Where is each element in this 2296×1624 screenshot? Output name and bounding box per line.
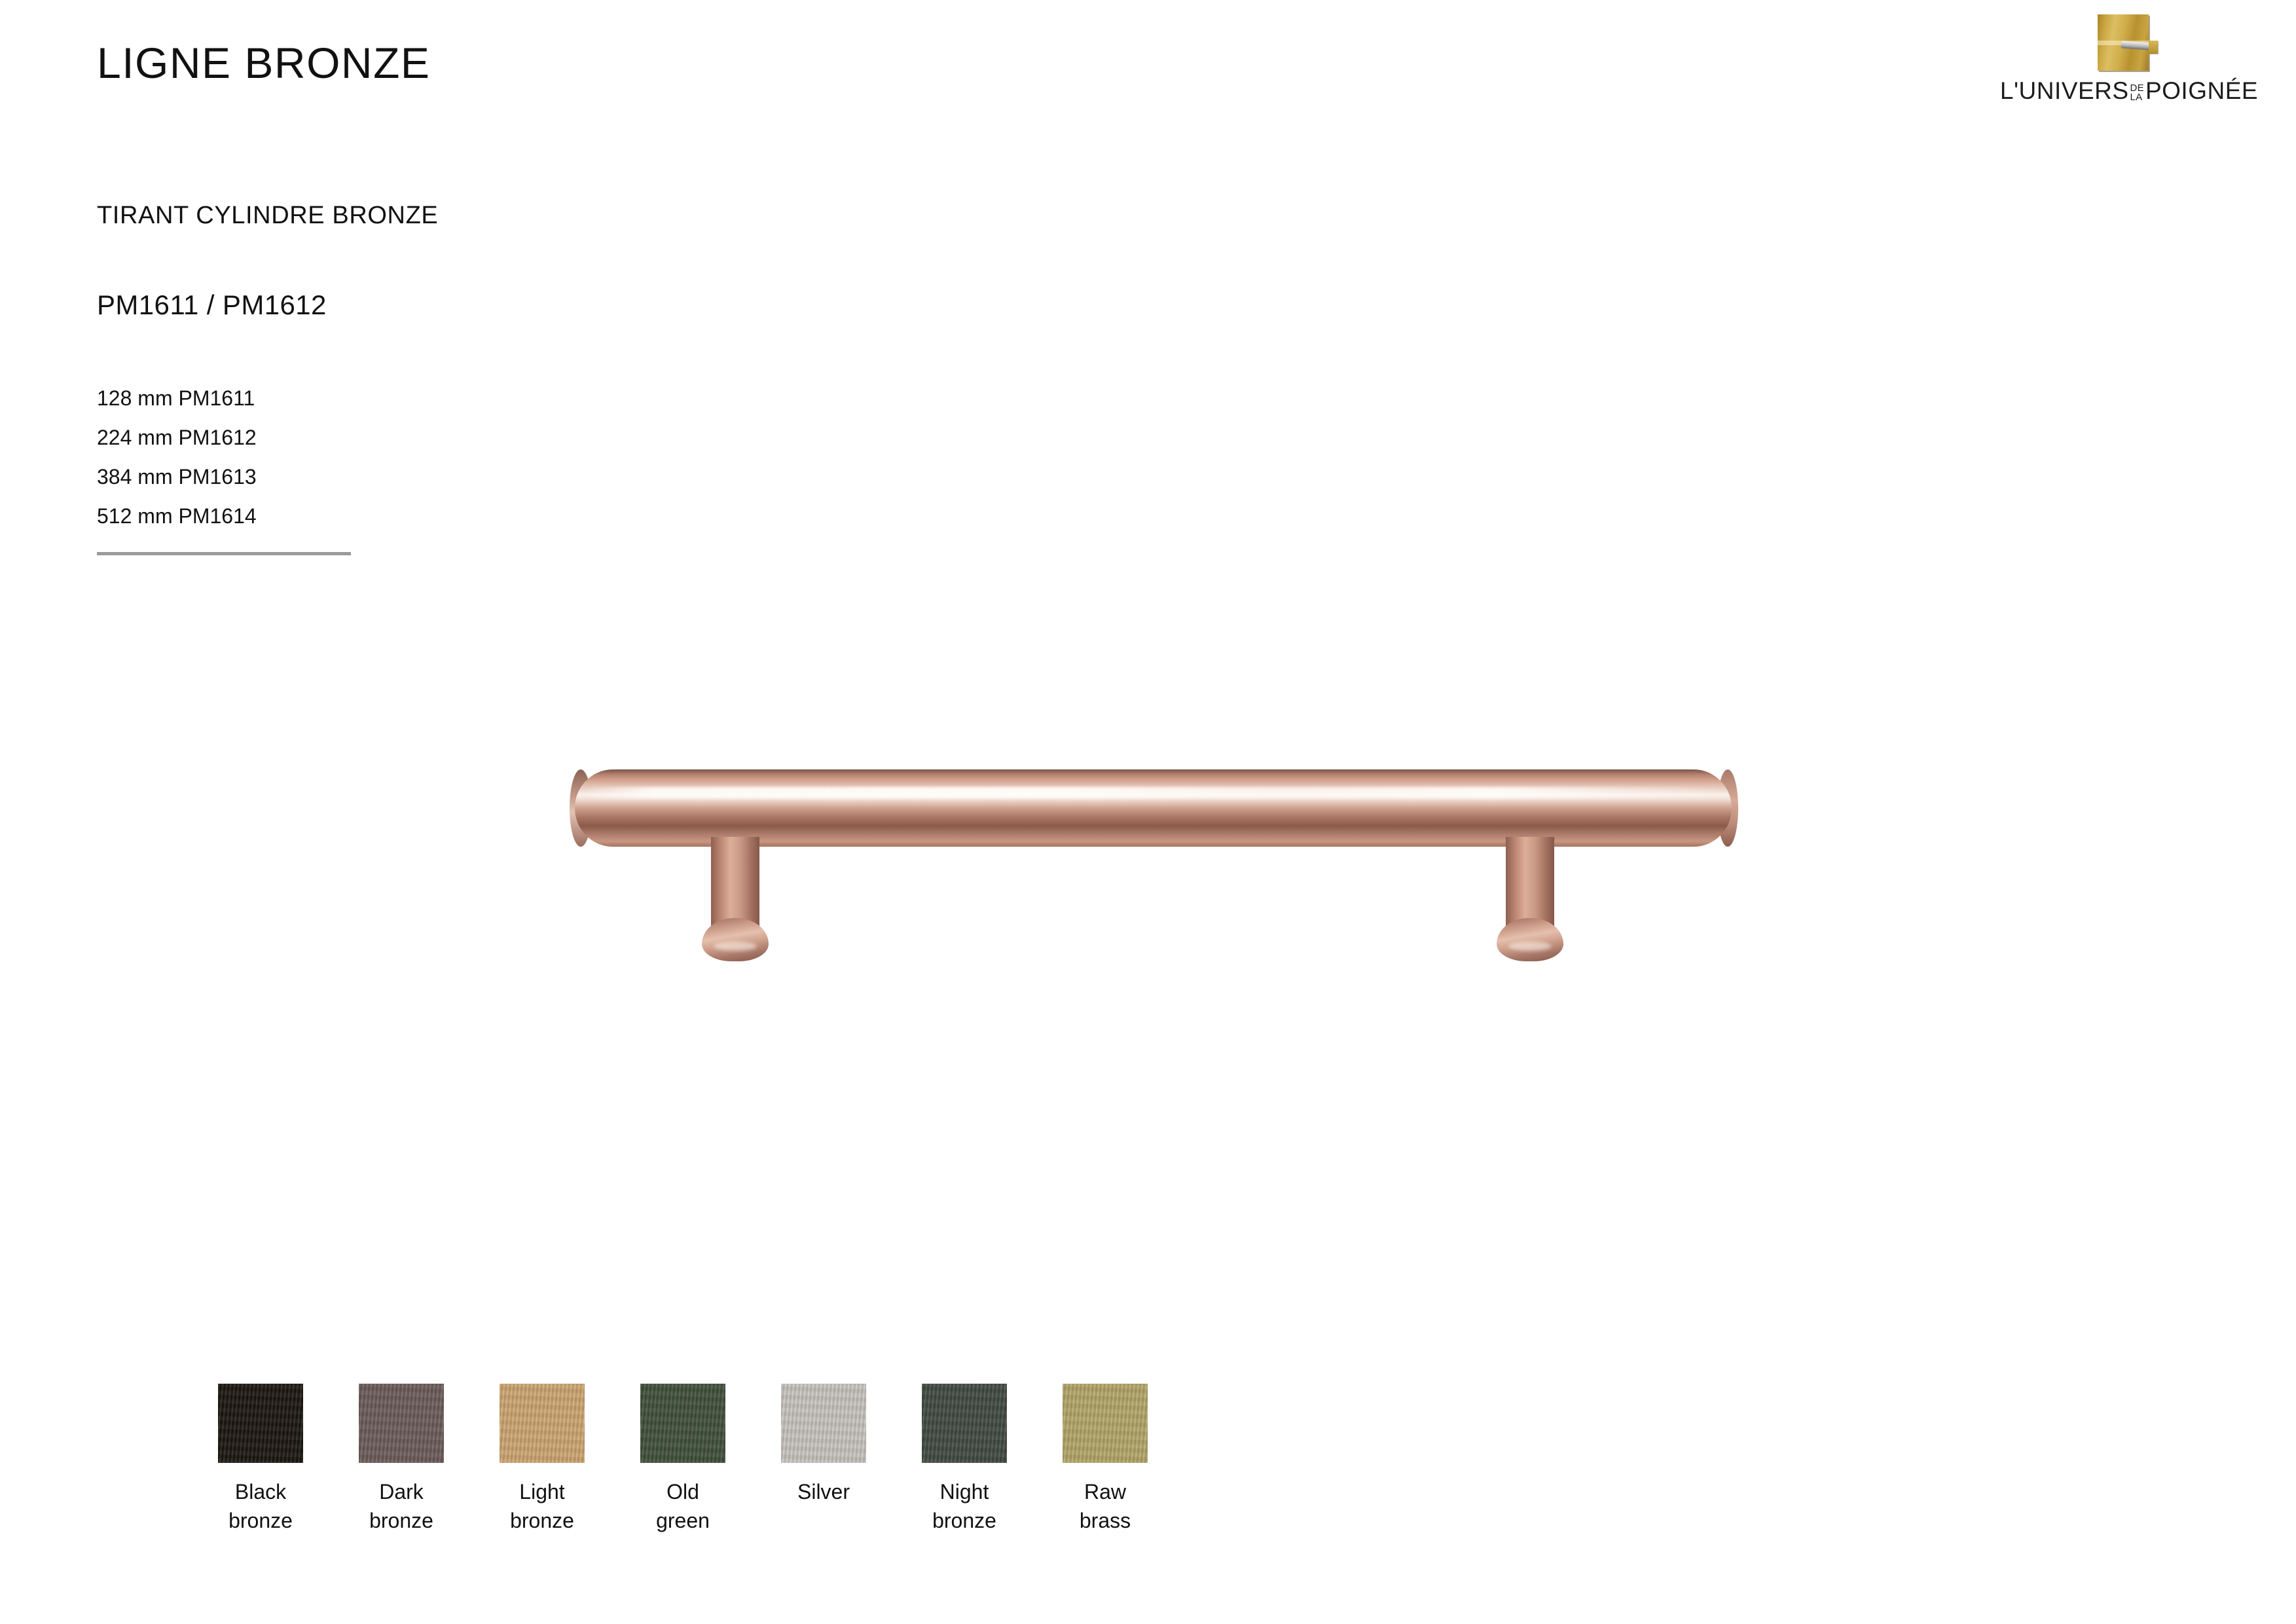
product-subtitle: TIRANT CYLINDRE BRONZE bbox=[97, 202, 438, 230]
swatch-texture bbox=[922, 1384, 1007, 1463]
finish-option[interactable]: Night bronze bbox=[922, 1384, 1007, 1535]
swatch-texture bbox=[359, 1384, 444, 1463]
finish-label: Silver bbox=[797, 1477, 850, 1506]
size-list-item: 128 mm PM1611 bbox=[97, 378, 257, 418]
finish-swatch[interactable] bbox=[922, 1384, 1007, 1463]
finish-label: Night bronze bbox=[932, 1477, 996, 1535]
finish-swatch[interactable] bbox=[781, 1384, 866, 1463]
finish-swatch[interactable] bbox=[500, 1384, 585, 1463]
swatch-texture bbox=[218, 1384, 303, 1463]
brand-wordmark: L'UNIVERS DE LA POIGNÉE bbox=[2000, 77, 2258, 105]
swatch-texture bbox=[500, 1384, 585, 1463]
handle-post-left bbox=[711, 837, 759, 931]
size-list-item: 512 mm PM1614 bbox=[97, 496, 257, 536]
wordmark-univers: L'UNIVERS bbox=[2000, 77, 2129, 105]
horizontal-rule bbox=[97, 552, 351, 555]
finish-label: Dark bronze bbox=[369, 1477, 433, 1535]
door-plate-handle-icon bbox=[2092, 12, 2166, 72]
finish-swatch-row: Black bronze Dark bronze Light bronze Ol… bbox=[218, 1384, 2189, 1535]
finish-option[interactable]: Black bronze bbox=[218, 1384, 303, 1535]
finish-label: Black bronze bbox=[228, 1477, 293, 1535]
size-list-item: 224 mm PM1612 bbox=[97, 418, 257, 457]
swatch-texture bbox=[781, 1384, 866, 1463]
foot-highlight-right bbox=[1508, 942, 1552, 951]
finish-swatch[interactable] bbox=[640, 1384, 725, 1463]
handle-post-right bbox=[1506, 837, 1554, 931]
finish-label: Raw brass bbox=[1080, 1477, 1131, 1535]
product-reference-codes: PM1611 / PM1612 bbox=[97, 289, 327, 321]
finish-option[interactable]: Light bronze bbox=[500, 1384, 585, 1535]
product-sheet-page: LIGNE BRONZE L'UNIVERS DE LA POIGNÉE TIR… bbox=[0, 0, 2296, 1624]
size-list-item: 384 mm PM1613 bbox=[97, 457, 257, 496]
swatch-texture bbox=[640, 1384, 725, 1463]
size-list: 128 mm PM1611 224 mm PM1612 384 mm PM161… bbox=[97, 378, 257, 536]
product-photo bbox=[543, 714, 1761, 995]
foot-highlight-left bbox=[714, 942, 757, 951]
page-title: LIGNE BRONZE bbox=[97, 38, 430, 88]
handle-foot-left bbox=[702, 918, 769, 961]
finish-swatch[interactable] bbox=[218, 1384, 303, 1463]
swatch-texture bbox=[1063, 1384, 1148, 1463]
finish-label: Light bronze bbox=[510, 1477, 574, 1535]
wordmark-la: LA bbox=[2130, 93, 2144, 102]
finish-swatch[interactable] bbox=[359, 1384, 444, 1463]
handle-bar bbox=[575, 769, 1732, 847]
wordmark-de-la: DE LA bbox=[2130, 84, 2144, 105]
plate-edge-tab bbox=[2149, 41, 2158, 54]
handle-foot-right bbox=[1497, 918, 1563, 961]
finish-option[interactable]: Raw brass bbox=[1063, 1384, 1148, 1535]
bar-specular-highlight bbox=[583, 787, 1725, 798]
finish-label: Old green bbox=[656, 1477, 710, 1535]
finish-option[interactable]: Silver bbox=[781, 1384, 866, 1535]
finish-option[interactable]: Old green bbox=[640, 1384, 725, 1535]
finish-option[interactable]: Dark bronze bbox=[359, 1384, 444, 1535]
brand-logo: L'UNIVERS DE LA POIGNÉE bbox=[1975, 12, 2283, 105]
finish-swatch[interactable] bbox=[1063, 1384, 1148, 1463]
wordmark-poignee: POIGNÉE bbox=[2145, 77, 2258, 105]
